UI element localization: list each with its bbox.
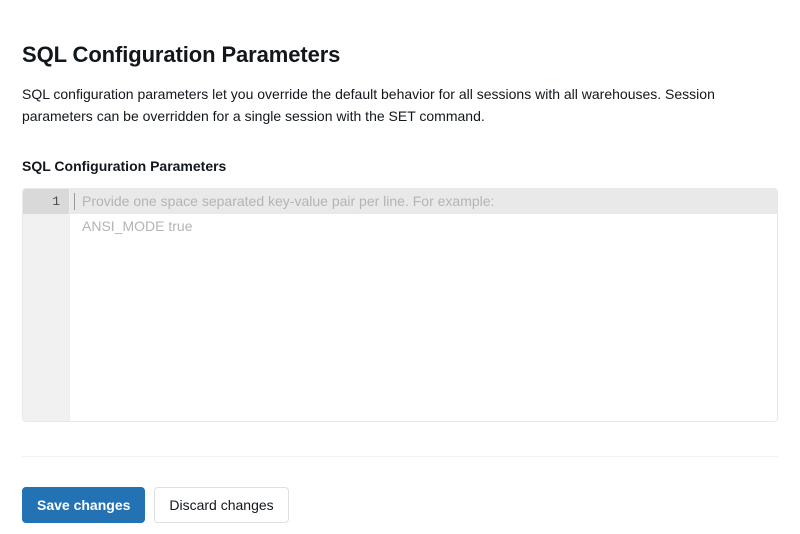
- form-actions: Save changes Discard changes: [22, 457, 778, 523]
- discard-changes-button[interactable]: Discard changes: [154, 487, 288, 523]
- editor-gutter: 1: [23, 189, 70, 421]
- editor-placeholder-line-1: Provide one space separated key-value pa…: [82, 189, 777, 214]
- editor-line-number: 1: [23, 189, 69, 214]
- save-changes-button[interactable]: Save changes: [22, 487, 145, 523]
- sql-config-code-editor[interactable]: 1 Provide one space separated key-value …: [22, 188, 778, 422]
- page-description: SQL configuration parameters let you ove…: [22, 69, 762, 127]
- editor-placeholder-line-2: ANSI_MODE true: [82, 214, 777, 239]
- editor-placeholder: Provide one space separated key-value pa…: [70, 189, 777, 239]
- editor-content-area[interactable]: Provide one space separated key-value pa…: [70, 189, 777, 421]
- sql-config-field-label: SQL Configuration Parameters: [22, 156, 778, 176]
- page-title: SQL Configuration Parameters: [22, 0, 778, 69]
- sql-config-field-block: SQL Configuration Parameters 1 Provide o…: [22, 127, 778, 422]
- sql-configuration-parameters-page: SQL Configuration Parameters SQL configu…: [0, 0, 800, 534]
